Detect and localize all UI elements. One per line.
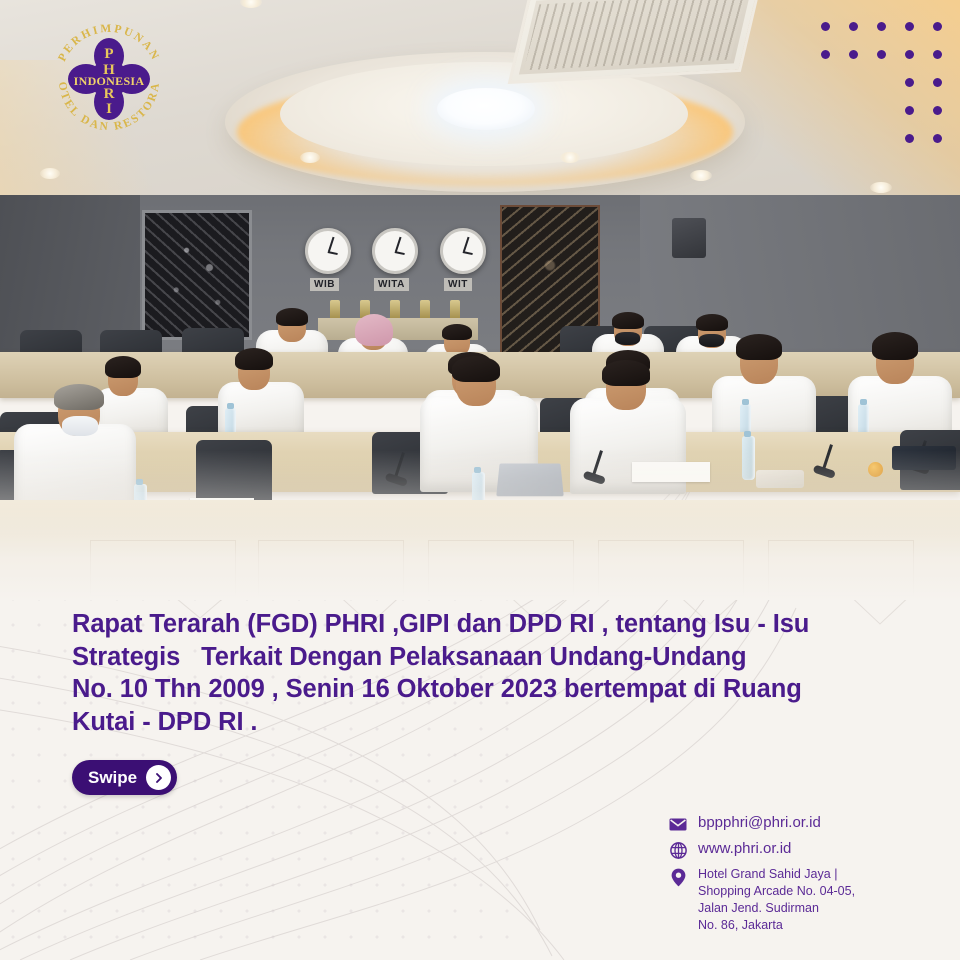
wall-clock-wita <box>372 228 418 274</box>
air-conditioner-vent <box>508 0 763 84</box>
globe-icon <box>668 840 688 860</box>
social-media-poster: WIB WITA WIT <box>0 0 960 960</box>
downlight <box>870 182 892 193</box>
grid-dot <box>877 50 886 59</box>
grid-dot <box>821 50 830 59</box>
logo-letter-p: P <box>104 46 113 62</box>
ceiling-dome-light <box>437 88 535 130</box>
phri-logo: PERHIMPUNAN HOTEL DAN RESTORAN P H R I I… <box>48 18 170 136</box>
trophy <box>330 300 340 318</box>
wall-art-panel-left <box>142 210 252 340</box>
dot-grid-row <box>821 106 942 115</box>
photo-bottom-fade <box>0 450 960 600</box>
swipe-button[interactable]: Swipe <box>72 760 177 795</box>
contact-email: bppphri@phri.or.id <box>698 814 821 832</box>
wall-clock-wit <box>440 228 486 274</box>
wall-clock-wib <box>305 228 351 274</box>
wall-speaker <box>672 218 706 258</box>
address-line-1: Hotel Grand Sahid Jaya | <box>698 867 837 881</box>
dot-grid-row <box>821 22 942 31</box>
envelope-icon <box>668 814 688 834</box>
grid-dot <box>933 50 942 59</box>
contact-address: Hotel Grand Sahid Jaya | Shopping Arcade… <box>698 866 855 934</box>
dot-grid-row <box>821 50 942 59</box>
grid-dot <box>905 106 914 115</box>
contact-email-row[interactable]: bppphri@phri.or.id <box>668 814 898 834</box>
downlight <box>300 152 320 163</box>
contact-website-row[interactable]: www.phri.or.id <box>668 840 898 860</box>
grid-dot <box>933 106 942 115</box>
caption-line-2: Strategis Terkait Dengan Pelaksanaan Und… <box>72 641 892 674</box>
clock-label-wita: WITA <box>374 278 409 291</box>
clock-label-wit: WIT <box>444 278 472 291</box>
logo-center-text: INDONESIA <box>74 74 145 88</box>
caption-line-4: Kutai - DPD RI . <box>72 706 892 739</box>
contact-website: www.phri.or.id <box>698 840 791 858</box>
downlight <box>40 168 60 179</box>
logo-letter-r: R <box>104 86 115 102</box>
map-pin-icon <box>668 867 688 887</box>
dot-grid-decoration <box>821 22 942 162</box>
trophy <box>450 300 460 318</box>
grid-dot <box>933 134 942 143</box>
grid-dot <box>905 22 914 31</box>
grid-dot <box>905 78 914 87</box>
grid-dot <box>905 50 914 59</box>
dot-grid-row <box>821 134 942 143</box>
contact-address-row: Hotel Grand Sahid Jaya | Shopping Arcade… <box>668 866 898 934</box>
address-line-3: Jalan Jend. Sudirman <box>698 901 819 915</box>
address-line-4: No. 86, Jakarta <box>698 918 783 932</box>
downlight <box>560 152 580 163</box>
caption-line-1: Rapat Terarah (FGD) PHRI ,GIPI dan DPD R… <box>72 608 892 641</box>
grid-dot <box>933 78 942 87</box>
trophy <box>390 300 400 318</box>
chevron-right-icon[interactable] <box>146 765 171 790</box>
grid-dot <box>933 22 942 31</box>
dot-grid-row <box>821 78 942 87</box>
contact-block: bppphri@phri.or.id www.phri.or.id <box>668 814 898 940</box>
downlight <box>240 0 262 8</box>
grid-dot <box>849 50 858 59</box>
downlight <box>690 170 712 181</box>
event-caption: Rapat Terarah (FGD) PHRI ,GIPI dan DPD R… <box>72 608 892 739</box>
swipe-label: Swipe <box>88 768 137 788</box>
grid-dot <box>821 22 830 31</box>
clock-label-wib: WIB <box>310 278 339 291</box>
address-line-2: Shopping Arcade No. 04-05, <box>698 884 855 898</box>
caption-line-3: No. 10 Thn 2009 , Senin 16 Oktober 2023 … <box>72 673 892 706</box>
logo-letter-i: I <box>106 101 112 117</box>
grid-dot <box>905 134 914 143</box>
trophy <box>420 300 430 318</box>
grid-dot <box>849 22 858 31</box>
grid-dot <box>877 22 886 31</box>
